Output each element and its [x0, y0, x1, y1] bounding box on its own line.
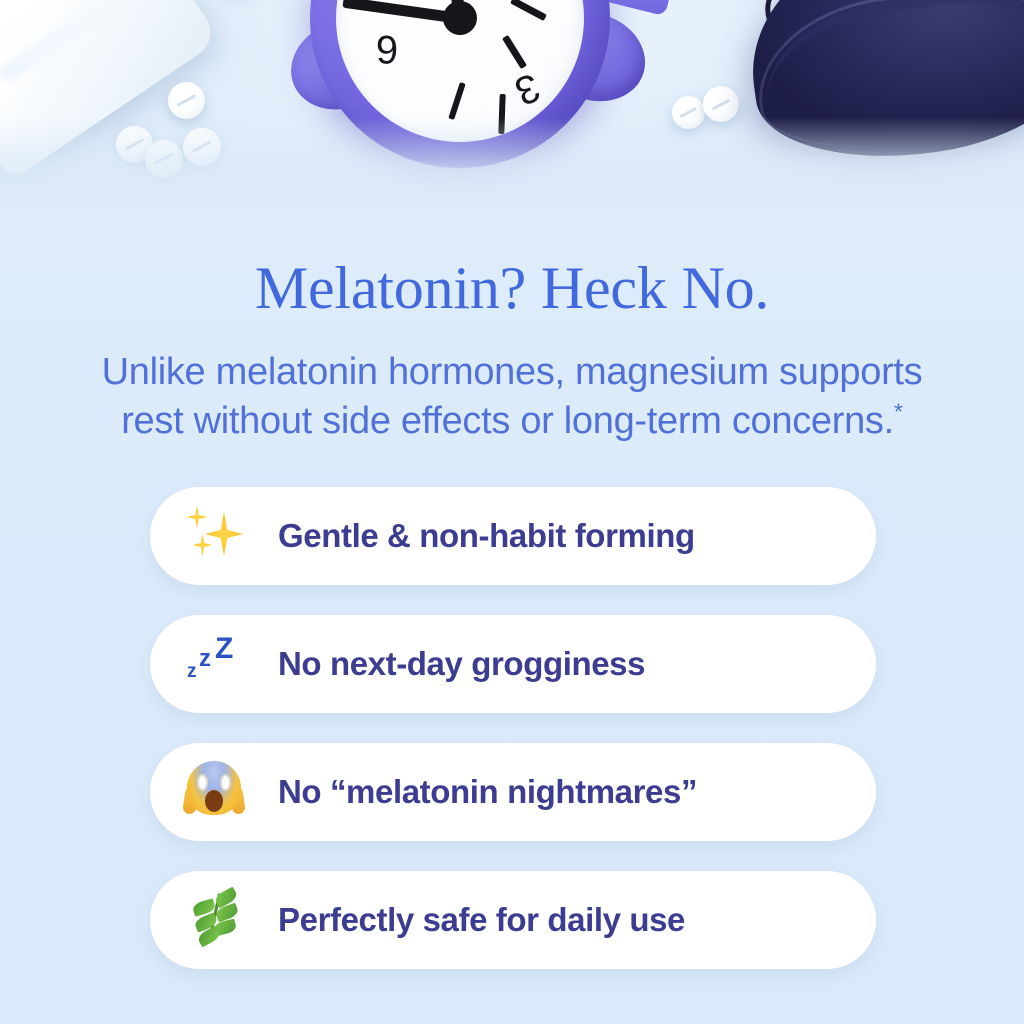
feature-card-grogginess[interactable]: Z z z No next-day grogginess [150, 615, 876, 713]
footnote-marker: * [894, 398, 903, 424]
subtitle-line-2: rest without side effects or long-term c… [121, 400, 894, 442]
feature-card-nightmares[interactable]: No “melatonin nightmares” [150, 743, 876, 841]
subtitle-line-1: Unlike melatonin hormones, magnesium sup… [102, 351, 923, 393]
clock-tick [510, 0, 547, 21]
clock-numeral-6: 6 [376, 26, 398, 71]
zzz-icon: Z z z [150, 634, 278, 694]
feature-label: Gentle & non-habit forming [278, 517, 695, 555]
clock-numeral-3: 3 [508, 63, 545, 113]
page-title: Melatonin? Heck No. [0, 258, 1024, 319]
face-screaming-icon [150, 761, 278, 823]
clock-tick [502, 35, 527, 69]
feature-label: No next-day grogginess [278, 645, 645, 683]
product-infographic: 6 3 Melatonin? Heck No. U [0, 0, 1024, 1024]
feature-card-daily-use[interactable]: Perfectly safe for daily use [150, 871, 876, 969]
clock-tick [448, 82, 465, 120]
tablet [168, 82, 205, 119]
sleep-products-photo: 6 3 [0, 0, 1024, 205]
clock-hand-hub [443, 1, 477, 35]
photo-fade-overlay [0, 117, 1024, 205]
page-subtitle: Unlike melatonin hormones, magnesium sup… [47, 348, 977, 445]
herb-icon [150, 889, 278, 951]
feature-label: No “melatonin nightmares” [278, 773, 697, 811]
feature-list: Gentle & non-habit forming Z z z No next… [150, 487, 876, 999]
feature-label: Perfectly safe for daily use [278, 901, 685, 939]
feature-card-gentle[interactable]: Gentle & non-habit forming [150, 487, 876, 585]
sparkles-icon [150, 506, 278, 566]
